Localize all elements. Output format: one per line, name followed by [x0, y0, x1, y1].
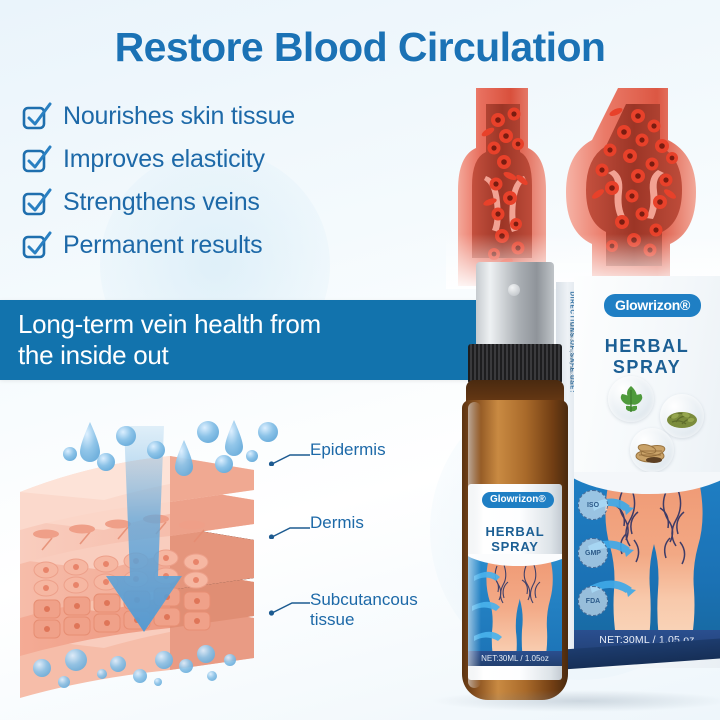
- list-item: Improves elasticity: [22, 138, 452, 181]
- spray-nozzle-cap-icon: [476, 262, 554, 346]
- checkbox-checked-icon: [22, 104, 47, 129]
- bottle-collar: [468, 344, 562, 384]
- bottle-highlight: [468, 402, 481, 688]
- list-item-label: Strengthens veins: [63, 188, 260, 217]
- tagline-line-2: the inside out: [18, 340, 448, 371]
- skin-label-subcutaneous-tissue: Subcutancous tissue: [310, 590, 440, 630]
- skin-label-epidermis: Epidermis: [310, 440, 386, 460]
- list-item: Strengthens veins: [22, 181, 452, 224]
- checkbox-checked-icon: [22, 147, 47, 172]
- dried-root-slices-icon: [630, 428, 674, 472]
- product-name: HERBAL SPRAY: [468, 524, 562, 554]
- brand-badge: Glowrizon®: [482, 492, 554, 508]
- iso-certified-seal-icon: ISO: [578, 490, 608, 520]
- product-box: DIRECTIONS OF SAFE USE: Spray the produc…: [556, 276, 720, 676]
- list-item: Nourishes skin tissue: [22, 95, 452, 138]
- list-item: Permanent results: [22, 224, 452, 267]
- leader-line: [268, 525, 312, 539]
- skin-label-dermis: Dermis: [310, 513, 364, 533]
- page-title: Restore Blood Circulation: [0, 24, 720, 71]
- skin-cross-section-illustration: [6, 392, 306, 712]
- bottle-label: Glowrizon® HERBAL SPRAY: [468, 484, 562, 680]
- tagline-banner: Long-term vein health from the inside ou…: [0, 300, 478, 380]
- nozzle-dot-icon: [508, 284, 520, 296]
- brand-badge: Glowrizon®: [604, 294, 701, 317]
- list-item-label: Improves elasticity: [63, 145, 265, 174]
- benefits-list: Nourishes skin tissue Improves elasticit…: [22, 95, 452, 267]
- vein-cross-section-illustration: [446, 84, 720, 289]
- list-item-label: Nourishes skin tissue: [63, 102, 295, 131]
- tagline-text: Long-term vein health from the inside ou…: [18, 309, 448, 371]
- box-front-panel: Glowrizon® HERBAL SPRAY: [574, 276, 720, 668]
- checkbox-checked-icon: [22, 233, 47, 258]
- leader-line: [268, 600, 312, 616]
- net-volume-label: NET:30ML / 1.05oz: [468, 651, 562, 666]
- green-herb-leaf-icon: [608, 376, 654, 422]
- checkbox-checked-icon: [22, 190, 47, 215]
- gmp-certified-seal-icon: GMP: [578, 538, 608, 568]
- marketing-image-canvas: Restore Blood Circulation Nourishes skin…: [0, 0, 720, 720]
- list-item-label: Permanent results: [63, 231, 262, 260]
- leader-line: [268, 452, 312, 466]
- fda-approved-seal-icon: FDA: [578, 586, 608, 616]
- product-shadow: [430, 690, 720, 712]
- tagline-line-1: Long-term vein health from: [18, 309, 448, 340]
- product-name: HERBAL SPRAY: [574, 336, 720, 378]
- varicose-veins-legs-illustration: NET:30ML / 1.05oz: [468, 554, 562, 666]
- spray-bottle: Glowrizon® HERBAL SPRAY: [452, 262, 580, 710]
